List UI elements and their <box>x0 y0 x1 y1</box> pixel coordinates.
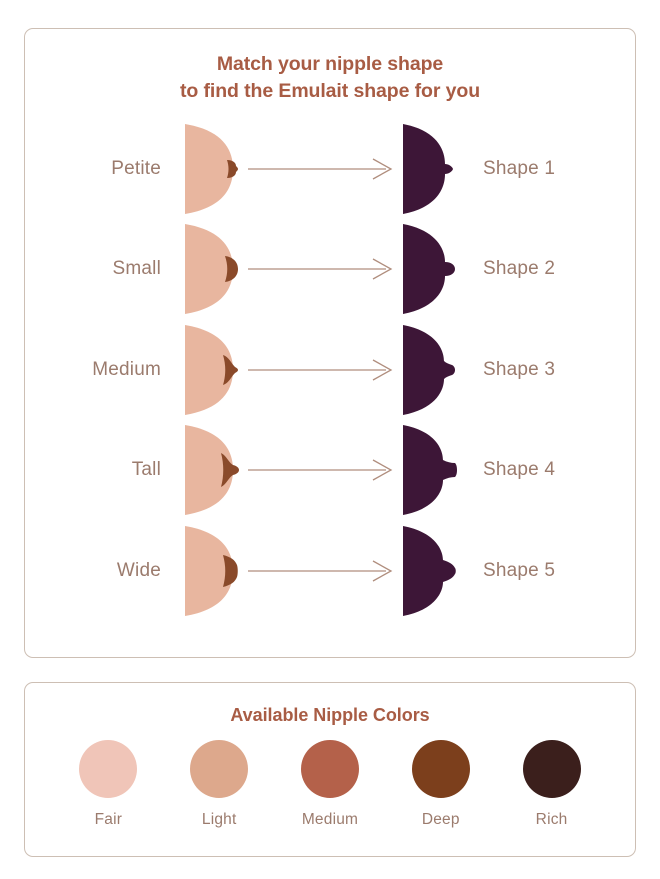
page-title-line-2: to find the Emulait shape for you <box>51 78 609 105</box>
emulait-shape-3-icon <box>401 322 459 418</box>
color-dot <box>79 740 137 798</box>
color-dot <box>412 740 470 798</box>
nipple-size-label: Small <box>51 258 183 280</box>
available-colors-title: Available Nipple Colors <box>45 705 615 726</box>
infographic-page: Match your nipple shape to find the Emul… <box>0 0 660 879</box>
color-dot <box>190 740 248 798</box>
emulait-shape-1-icon <box>401 121 459 217</box>
available-colors-card: Available Nipple Colors Fair Light Mediu… <box>24 682 636 857</box>
emulait-shape-label: Shape 3 <box>459 359 609 381</box>
color-swatch-deep[interactable]: Deep <box>412 740 470 829</box>
shape-match-row: Small S <box>51 221 609 317</box>
arrow-right-icon <box>241 221 401 317</box>
arrow-right-icon <box>241 523 401 619</box>
arrow-right-icon <box>241 121 401 217</box>
shape-match-row: Wide Sh <box>51 523 609 619</box>
color-swatch-label: Light <box>202 811 237 829</box>
breast-wide-icon <box>183 523 241 619</box>
shape-match-row: Petite <box>51 121 609 217</box>
shape-match-row: Tall Sh <box>51 422 609 518</box>
emulait-shape-label: Shape 4 <box>459 459 609 481</box>
shape-match-row: Medium <box>51 322 609 418</box>
breast-medium-icon <box>183 322 241 418</box>
color-swatch-light[interactable]: Light <box>190 740 248 829</box>
color-swatch-label: Rich <box>536 811 568 829</box>
shape-match-rows: Petite <box>51 111 609 639</box>
nipple-size-label: Petite <box>51 158 183 180</box>
color-swatch-rich[interactable]: Rich <box>523 740 581 829</box>
color-dot <box>523 740 581 798</box>
page-title-line-1: Match your nipple shape <box>51 51 609 78</box>
match-shapes-card: Match your nipple shape to find the Emul… <box>24 28 636 658</box>
emulait-shape-4-icon <box>401 422 459 518</box>
color-swatch-label: Medium <box>302 811 358 829</box>
color-swatch-label: Fair <box>95 811 123 829</box>
nipple-size-label: Tall <box>51 459 183 481</box>
emulait-shape-label: Shape 2 <box>459 258 609 280</box>
color-swatch-medium[interactable]: Medium <box>301 740 359 829</box>
emulait-shape-2-icon <box>401 221 459 317</box>
breast-small-icon <box>183 221 241 317</box>
nipple-size-label: Medium <box>51 359 183 381</box>
emulait-shape-label: Shape 1 <box>459 158 609 180</box>
breast-tall-icon <box>183 422 241 518</box>
color-swatch-fair[interactable]: Fair <box>79 740 137 829</box>
color-swatch-list: Fair Light Medium Deep Rich <box>45 726 615 840</box>
breast-petite-icon <box>183 121 241 217</box>
emulait-shape-label: Shape 5 <box>459 560 609 582</box>
page-title: Match your nipple shape to find the Emul… <box>51 51 609 105</box>
emulait-shape-5-icon <box>401 523 459 619</box>
arrow-right-icon <box>241 422 401 518</box>
arrow-right-icon <box>241 322 401 418</box>
nipple-size-label: Wide <box>51 560 183 582</box>
color-swatch-label: Deep <box>422 811 460 829</box>
color-dot <box>301 740 359 798</box>
